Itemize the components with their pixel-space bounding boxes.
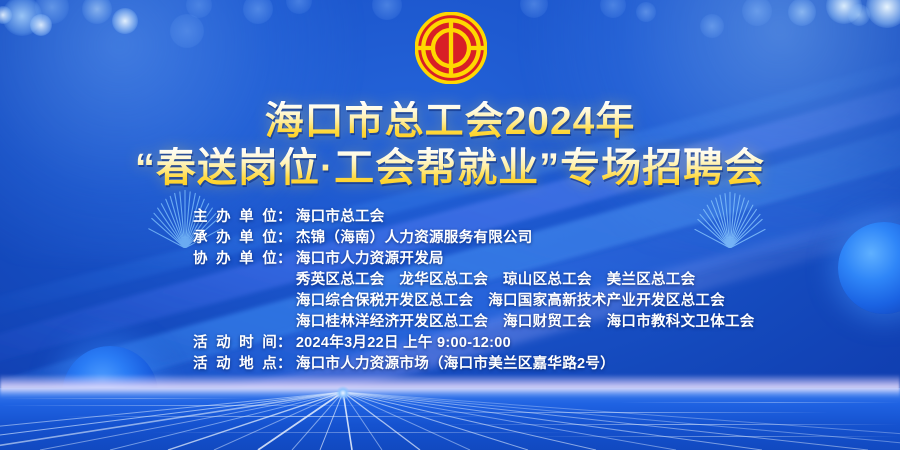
horizon-haze bbox=[0, 374, 900, 398]
info-colon: ： bbox=[277, 331, 292, 352]
info-value: 2024年3月22日 上午 9:00-12:00 bbox=[296, 331, 511, 352]
info-row-undertaker: 承办单位 ： 杰锦（海南）人力资源服务有限公司 bbox=[0, 226, 900, 247]
poster-title-line-1: 海口市总工会2024年 bbox=[0, 101, 900, 143]
bokeh-circle bbox=[848, 4, 870, 26]
info-row-event-time: 活动时间 ： 2024年3月22日 上午 9:00-12:00 bbox=[0, 331, 900, 352]
info-label: 主办单位 bbox=[193, 205, 277, 226]
bokeh-circle bbox=[826, 0, 862, 24]
bokeh-circle bbox=[186, 0, 212, 18]
bokeh-circle bbox=[30, 14, 52, 36]
info-value: 海口市人力资源市场（海口市美兰区嘉华路2号） bbox=[296, 352, 615, 373]
bokeh-circle bbox=[243, 0, 273, 24]
info-label: 活动地点 bbox=[193, 352, 277, 373]
info-row-coorganizer-cont-3: 主办单位 ： 海口桂林洋经济开发区总工会 海口财贸工会 海口市教科文卫体工会 bbox=[0, 310, 900, 331]
bokeh-circle bbox=[112, 8, 138, 34]
bokeh-circle bbox=[35, 0, 69, 24]
info-value: 杰锦（海南）人力资源服务有限公司 bbox=[296, 226, 533, 247]
info-row-event-location: 活动地点 ： 海口市人力资源市场（海口市美兰区嘉华路2号） bbox=[0, 352, 900, 373]
bokeh-circle bbox=[2, 0, 42, 36]
info-label: 协办单位 bbox=[193, 247, 277, 268]
bokeh-circle bbox=[372, 0, 402, 20]
info-colon: ： bbox=[277, 226, 292, 247]
bokeh-circle bbox=[170, 14, 204, 48]
info-colon: ： bbox=[277, 247, 292, 268]
bokeh-circle bbox=[636, 2, 656, 22]
event-info-block: 主办单位 ： 海口市总工会 承办单位 ： 杰锦（海南）人力资源服务有限公司 协办… bbox=[0, 205, 900, 373]
bokeh-circle bbox=[700, 14, 724, 38]
bokeh-circle bbox=[0, 6, 12, 24]
info-label: 活动时间 bbox=[193, 331, 277, 352]
info-row-coorganizer: 协办单位 ： 海口市人力资源开发局 bbox=[0, 247, 900, 268]
info-row-organizer: 主办单位 ： 海口市总工会 bbox=[0, 205, 900, 226]
bokeh-circle bbox=[520, 0, 548, 18]
info-value: 海口综合保税开发区总工会 海口国家高新技术产业开发区总工会 bbox=[296, 289, 725, 310]
bokeh-circle bbox=[742, 0, 772, 26]
poster-title-block: 海口市总工会2024年 “春送岗位·工会帮就业”专场招聘会 bbox=[0, 101, 900, 190]
info-row-coorganizer-cont-2: 主办单位 ： 海口综合保税开发区总工会 海口国家高新技术产业开发区总工会 bbox=[0, 289, 900, 310]
recruitment-poster: 海口市总工会2024年 “春送岗位·工会帮就业”专场招聘会 bbox=[0, 0, 900, 450]
info-value: 海口市总工会 bbox=[296, 205, 385, 226]
info-value: 秀英区总工会 龙华区总工会 琼山区总工会 美兰区总工会 bbox=[296, 268, 696, 289]
info-colon: ： bbox=[277, 352, 292, 373]
info-value: 海口市人力资源开发局 bbox=[296, 247, 444, 268]
info-row-coorganizer-cont-1: 主办单位 ： 秀英区总工会 龙华区总工会 琼山区总工会 美兰区总工会 bbox=[0, 268, 900, 289]
bokeh-circle bbox=[600, 0, 626, 18]
acftu-union-emblem-icon bbox=[415, 12, 487, 84]
vanishing-point-glow bbox=[336, 386, 350, 400]
poster-title-line-2: “春送岗位·工会帮就业”专场招聘会 bbox=[0, 147, 900, 190]
bokeh-circle bbox=[866, 0, 900, 28]
info-label: 承办单位 bbox=[193, 226, 277, 247]
bokeh-circle bbox=[788, 0, 816, 26]
bokeh-circle bbox=[286, 0, 312, 14]
info-colon: ： bbox=[277, 205, 292, 226]
info-value: 海口桂林洋经济开发区总工会 海口财贸工会 海口市教科文卫体工会 bbox=[296, 310, 755, 331]
bokeh-circle bbox=[82, 0, 112, 24]
